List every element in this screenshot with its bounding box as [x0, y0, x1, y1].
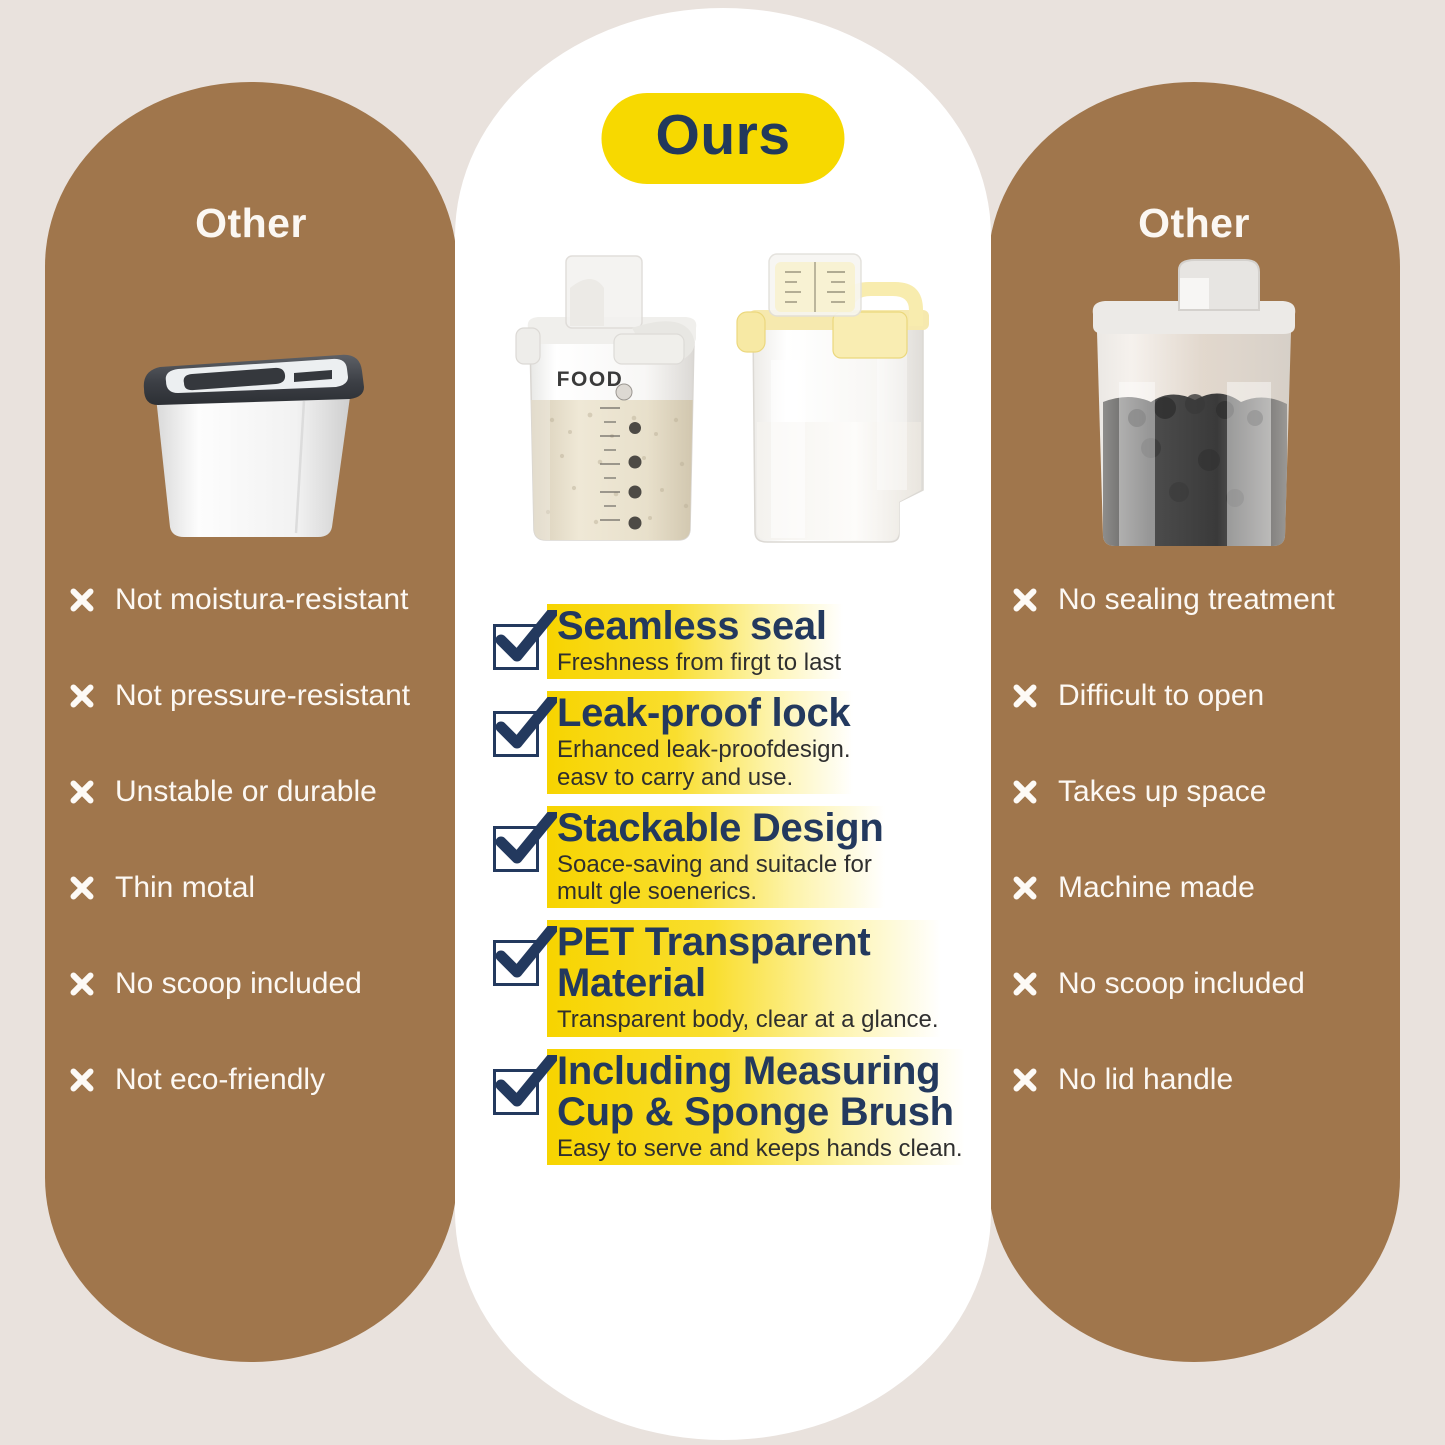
- feature-title: Stackable Design: [557, 808, 883, 849]
- other-panel-right: Other: [988, 82, 1400, 1362]
- other-panel-left: Other: [45, 82, 457, 1362]
- cross-icon: [1008, 1063, 1042, 1097]
- list-item: Difficult to open: [1008, 648, 1386, 744]
- feature-item: PET TransparentMaterial Transparent body…: [485, 920, 981, 1036]
- con-label: No scoop included: [115, 967, 362, 1001]
- feature-item: Including MeasuringCup & Sponge Brush Ea…: [485, 1049, 981, 1165]
- feature-subtitle: Erhanced leak-proofdesign.easv to carry …: [557, 734, 851, 790]
- feature-title: Leak-proof lock: [557, 693, 851, 734]
- feature-subtitle: Transparent body, clear at a glance.: [557, 1004, 939, 1033]
- cross-icon: [65, 1063, 99, 1097]
- feature-subtitle: Soace-saving and suitacle formult gle so…: [557, 849, 883, 905]
- cross-icon: [1008, 583, 1042, 617]
- cross-icon: [65, 679, 99, 713]
- con-label: No scoop included: [1058, 967, 1305, 1001]
- cross-icon: [1008, 967, 1042, 1001]
- ours-product-images: FOOD: [455, 230, 991, 560]
- cross-icon: [1008, 679, 1042, 713]
- list-item: Takes up space: [1008, 744, 1386, 840]
- list-item: No lid handle: [1008, 1032, 1386, 1128]
- cons-list-left: Not moistura-resistant Not pressure-resi…: [65, 552, 443, 1128]
- cons-list-right: No sealing treatment Difficult to open T…: [1008, 552, 1386, 1128]
- list-item: No sealing treatment: [1008, 552, 1386, 648]
- con-label: Machine made: [1058, 871, 1255, 905]
- con-label: No lid handle: [1058, 1063, 1233, 1097]
- feature-title: PET TransparentMaterial: [557, 922, 939, 1004]
- feature-item: Seamless seal Freshness from firgt to la…: [485, 604, 981, 679]
- cross-icon: [65, 775, 99, 809]
- feature-subtitle: Easy to serve and keeps hands clean.: [557, 1133, 963, 1162]
- other-product-image-left: [45, 282, 457, 542]
- other-title-left: Other: [45, 200, 457, 247]
- checkbox-checked-icon: [485, 806, 547, 880]
- checkbox-checked-icon: [485, 1049, 547, 1123]
- features-list: Seamless seal Freshness from firgt to la…: [485, 604, 981, 1177]
- list-item: Not pressure-resistant: [65, 648, 443, 744]
- ours-badge: Ours: [601, 93, 844, 184]
- feature-title: Seamless seal: [557, 606, 841, 647]
- list-item: No scoop included: [1008, 936, 1386, 1032]
- con-label: Not moistura-resistant: [115, 583, 408, 617]
- feature-item: Stackable Design Soace-saving and suitac…: [485, 806, 981, 908]
- list-item: Not eco-friendly: [65, 1032, 443, 1128]
- svg-text:FOOD: FOOD: [557, 368, 624, 391]
- checkbox-checked-icon: [485, 604, 547, 678]
- list-item: No scoop included: [65, 936, 443, 1032]
- cross-icon: [1008, 775, 1042, 809]
- checkbox-checked-icon: [485, 691, 547, 765]
- list-item: Thin motal: [65, 840, 443, 936]
- con-label: Difficult to open: [1058, 679, 1264, 713]
- comparison-infographic: Other: [0, 0, 1445, 1445]
- list-item: Unstable or durable: [65, 744, 443, 840]
- con-label: No sealing treatment: [1058, 583, 1335, 617]
- cross-icon: [1008, 871, 1042, 905]
- product-food-container: FOOD: [504, 240, 719, 560]
- product-yellow-trim-container: [727, 240, 942, 560]
- con-label: Takes up space: [1058, 775, 1266, 809]
- con-label: Not eco-friendly: [115, 1063, 325, 1097]
- feature-item: Leak-proof lock Erhanced leak-proofdesig…: [485, 691, 981, 793]
- con-label: Unstable or durable: [115, 775, 377, 809]
- cross-icon: [65, 967, 99, 1001]
- list-item: Machine made: [1008, 840, 1386, 936]
- other-product-image-right: [988, 232, 1400, 562]
- con-label: Thin motal: [115, 871, 255, 905]
- list-item: Not moistura-resistant: [65, 552, 443, 648]
- cross-icon: [65, 583, 99, 617]
- feature-title: Including MeasuringCup & Sponge Brush: [557, 1051, 963, 1133]
- checkbox-checked-icon: [485, 920, 547, 994]
- cross-icon: [65, 871, 99, 905]
- con-label: Not pressure-resistant: [115, 679, 410, 713]
- ours-panel: Ours: [455, 8, 991, 1440]
- feature-subtitle: Freshness from firgt to last: [557, 647, 841, 676]
